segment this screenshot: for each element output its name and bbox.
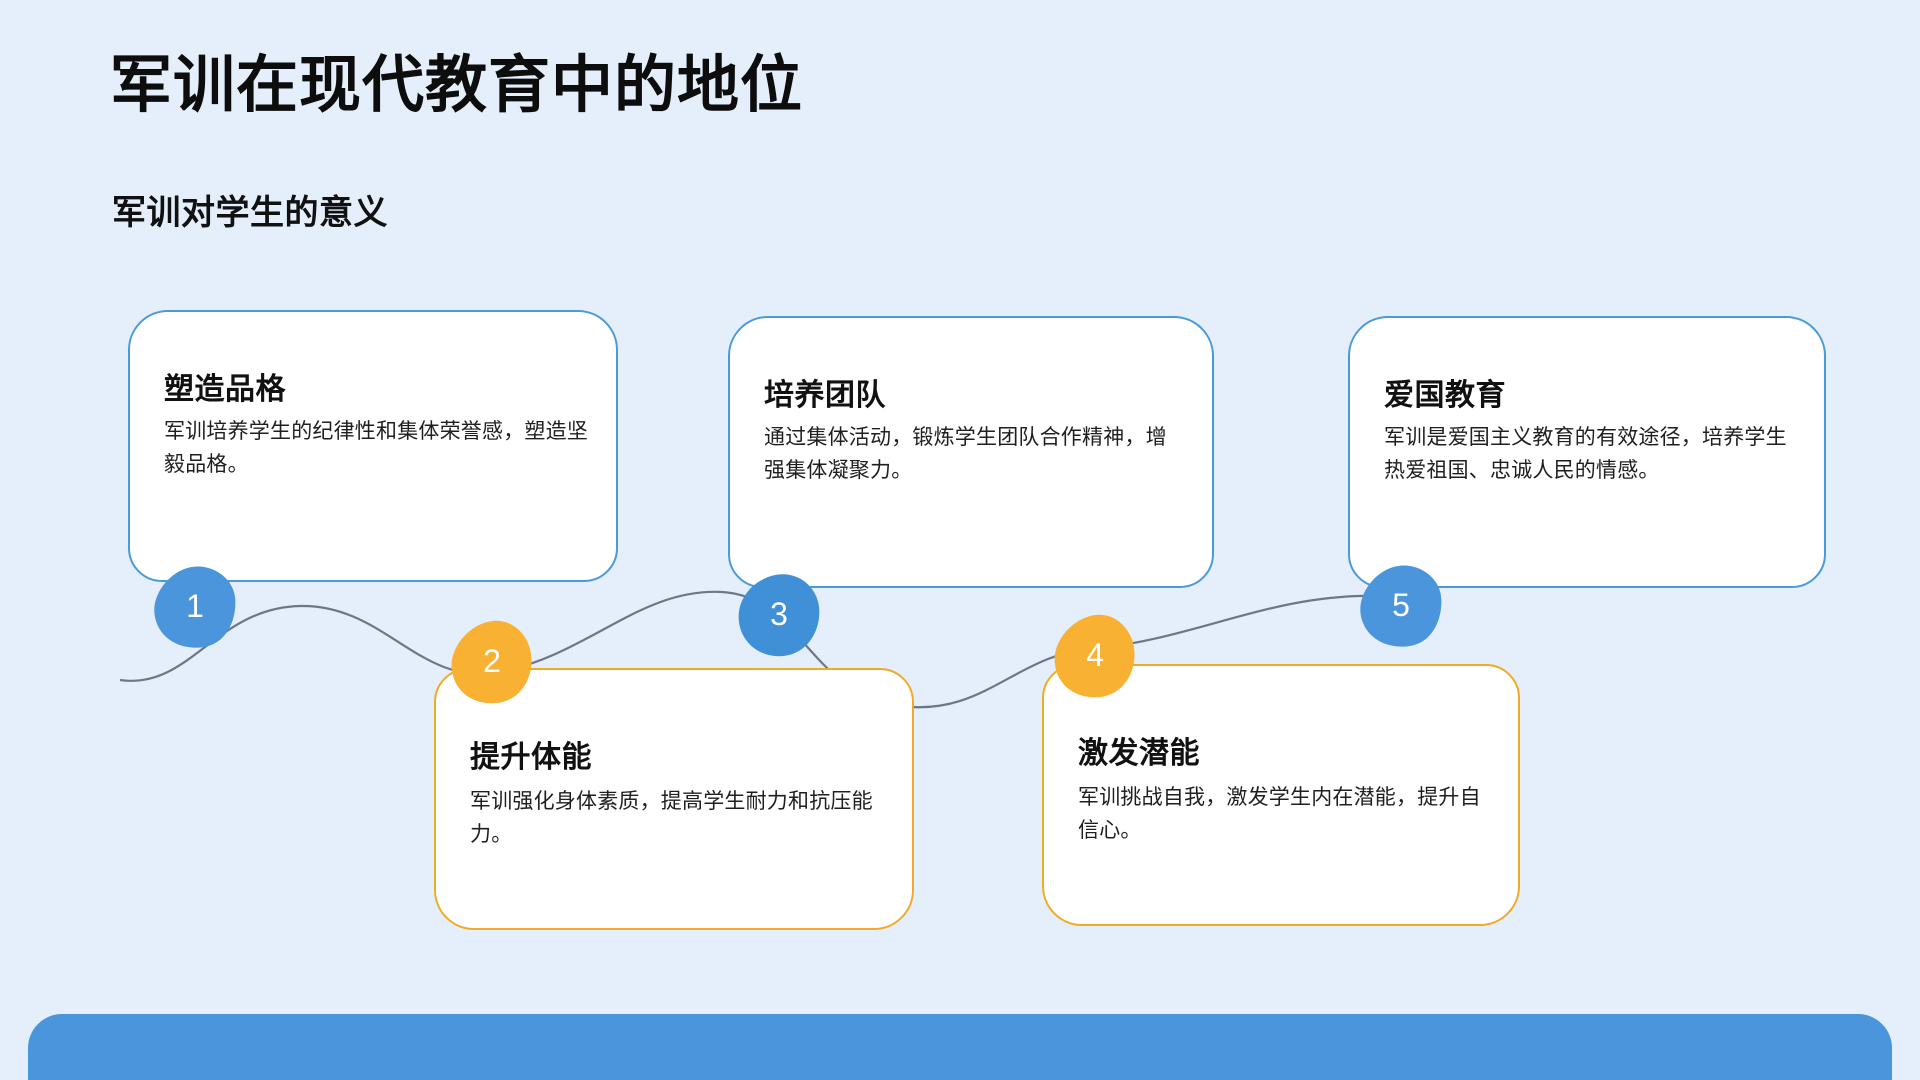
card-5-title: 爱国教育 [1384, 370, 1506, 414]
card-1[interactable]: 塑造品格 军训培养学生的纪律性和集体荣誉感，塑造坚毅品格。 [128, 310, 618, 582]
page-title: 军训在现代教育中的地位 [110, 52, 803, 120]
card-3[interactable]: 培养团队 通过集体活动，锻炼学生团队合作精神，增强集体凝聚力。 [728, 316, 1214, 588]
card-1-title: 塑造品格 [164, 364, 286, 408]
step-badge-4-number: 4 [1086, 637, 1104, 674]
step-badge-5[interactable]: 5 [1358, 564, 1444, 648]
card-4[interactable]: 激发潜能 军训挑战自我，激发学生内在潜能，提升自信心。 [1042, 664, 1520, 926]
card-3-title: 培养团队 [764, 370, 886, 414]
bottom-accent-bar [28, 1014, 1892, 1080]
step-badge-2[interactable]: 2 [449, 620, 535, 704]
step-badge-3[interactable]: 3 [736, 573, 822, 657]
step-badge-5-number: 5 [1392, 587, 1410, 624]
card-4-description: 军训挑战自我，激发学生内在潜能，提升自信心。 [1078, 782, 1490, 847]
card-2[interactable]: 提升体能 军训强化身体素质，提高学生耐力和抗压能力。 [434, 668, 914, 930]
card-4-title: 激发潜能 [1078, 728, 1200, 772]
card-3-description: 通过集体活动，锻炼学生团队合作精神，增强集体凝聚力。 [764, 422, 1184, 487]
step-badge-1[interactable]: 1 [152, 565, 238, 649]
slide-canvas: 军训在现代教育中的地位 军训对学生的意义 塑造品格 军训培养学生的纪律性和集体荣… [0, 0, 1920, 1080]
step-badge-3-number: 3 [770, 596, 788, 633]
page-subtitle: 军训对学生的意义 [112, 185, 388, 234]
card-5[interactable]: 爱国教育 军训是爱国主义教育的有效途径，培养学生热爱祖国、忠诚人民的情感。 [1348, 316, 1826, 588]
step-badge-1-number: 1 [186, 588, 204, 625]
card-2-title: 提升体能 [470, 732, 592, 776]
card-5-description: 军训是爱国主义教育的有效途径，培养学生热爱祖国、忠诚人民的情感。 [1384, 422, 1796, 487]
step-badge-2-number: 2 [483, 643, 501, 680]
card-2-description: 军训强化身体素质，提高学生耐力和抗压能力。 [470, 786, 884, 851]
card-1-description: 军训培养学生的纪律性和集体荣誉感，塑造坚毅品格。 [164, 416, 588, 481]
step-badge-4[interactable]: 4 [1052, 614, 1138, 698]
